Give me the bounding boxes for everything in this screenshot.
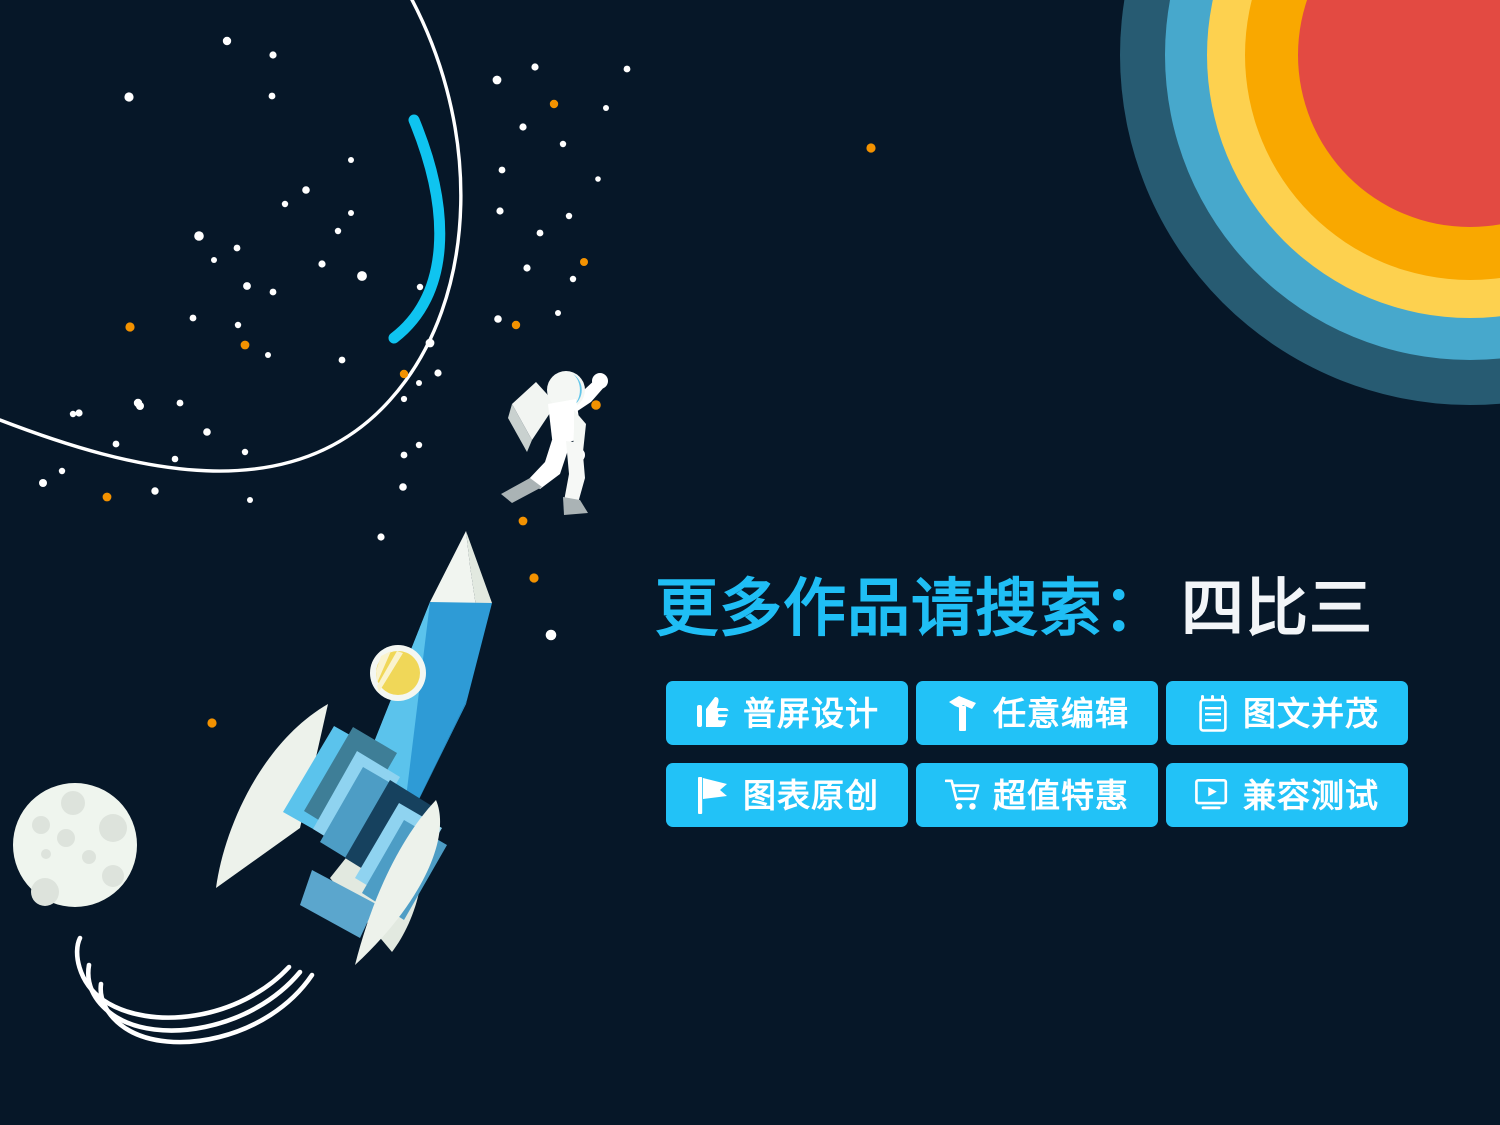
feature-badge-compatibility-test[interactable]: 兼容测试 — [1166, 763, 1408, 827]
flag-icon — [695, 775, 731, 815]
feature-badge-label: 任意编辑 — [993, 697, 1129, 730]
slide-canvas: 更多作品请搜索：四比三 普屏设计 任意编辑 — [0, 0, 1500, 1125]
thumbs-up-icon — [695, 693, 731, 733]
feature-badge-grid: 普屏设计 任意编辑 — [666, 681, 1408, 827]
headline-white-text: 四比三 — [1181, 574, 1373, 644]
monitor-play-icon — [1195, 775, 1231, 815]
feature-badge-original-charts[interactable]: 图表原创 — [666, 763, 908, 827]
notepad-icon — [1195, 693, 1231, 733]
feature-badge-label: 普屏设计 — [743, 697, 879, 730]
feature-badge-full-screen-design[interactable]: 普屏设计 — [666, 681, 908, 745]
astronaut-glove-up — [592, 373, 608, 389]
feature-badge-rich-media[interactable]: 图文并茂 — [1166, 681, 1408, 745]
headline: 更多作品请搜索：四比三 — [655, 578, 1373, 641]
feature-badge-label: 超值特惠 — [993, 779, 1129, 812]
space-illustration — [0, 0, 1500, 1125]
feature-badge-label: 兼容测试 — [1243, 779, 1379, 812]
feature-badge-label: 图表原创 — [743, 779, 879, 812]
feature-badge-free-edit[interactable]: 任意编辑 — [916, 681, 1158, 745]
moon-illustration — [13, 783, 137, 907]
cart-icon — [945, 775, 981, 815]
feature-badge-label: 图文并茂 — [1243, 697, 1379, 730]
hammer-icon — [945, 693, 981, 733]
headline-cyan-text: 更多作品请搜索： — [655, 574, 1167, 644]
feature-badge-great-value[interactable]: 超值特惠 — [916, 763, 1158, 827]
